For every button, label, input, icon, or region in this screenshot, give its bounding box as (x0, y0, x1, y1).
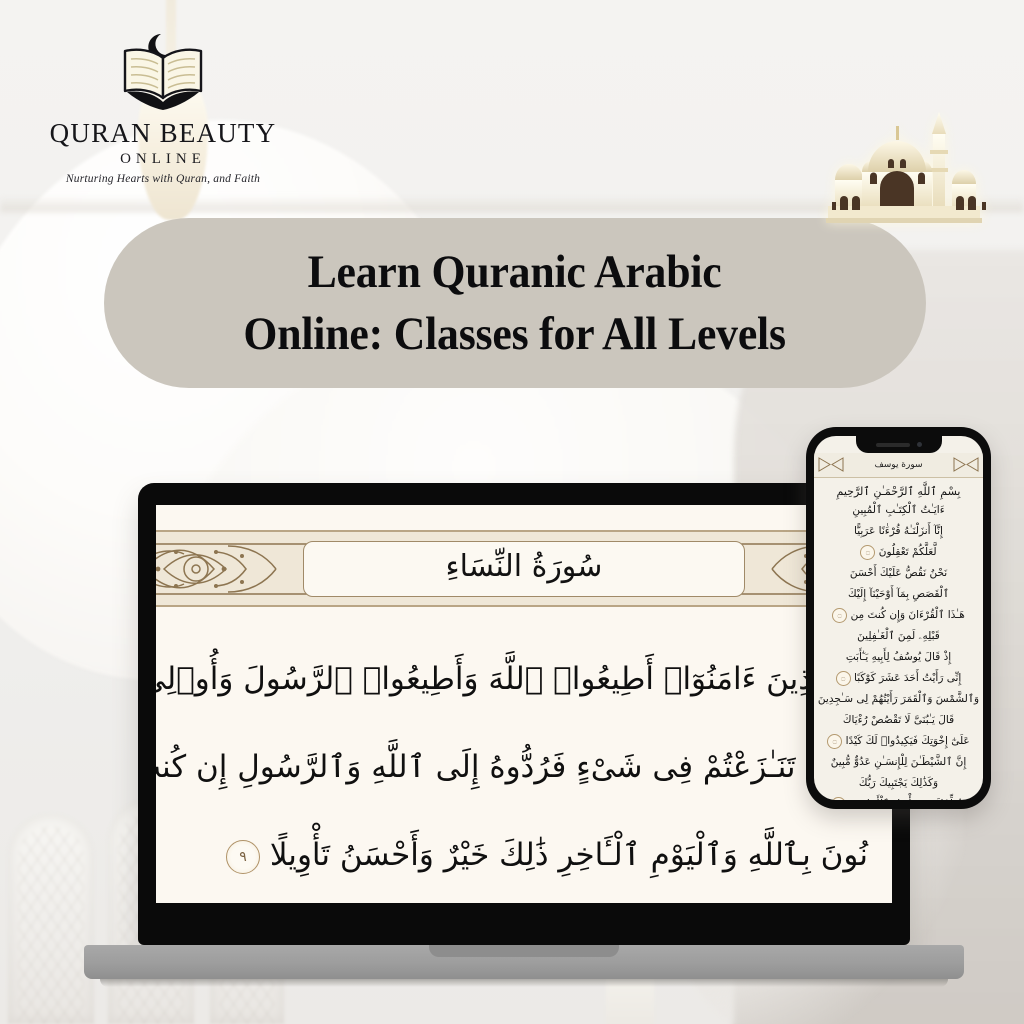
ayah-number-marker: ۝ (836, 671, 851, 686)
phone-verse-line: عَلَىٰٓ إِخْوَتِكَ فَيَكِيدُوا۟ لَكَ كَي… (816, 731, 981, 752)
phone-verse-line: وَٱلشَّمْسَ وَٱلْقَمَرَ رَأَيْتُهُمْ لِى… (816, 689, 981, 710)
laptop-device: سُورَةُ النِّسَاءِ (138, 483, 910, 987)
phone-surah-header: سورة يوسف (814, 453, 983, 478)
brand-logo: QURAN BEAUTY ONLINE Nurturing Hearts wit… (38, 28, 288, 185)
surah-banner: سُورَةُ النِّسَاءِ (156, 530, 892, 607)
ayah-number-marker: ۝ (860, 545, 875, 560)
quran-page: سُورَةُ النِّسَاءِ (156, 505, 892, 903)
ayah-text: نُونَ بِٱللَّهِ وَٱلْيَوْمِ ٱلْـَٔاخِرِ … (270, 837, 868, 873)
background-arch (8, 814, 94, 1024)
arabesque-ornament-icon (953, 456, 979, 473)
phone-speaker-icon (876, 443, 910, 447)
open-book-with-crescent-icon (103, 28, 223, 118)
ayah-number-marker: ۝ (827, 734, 842, 749)
phone-verse-line: إِنِّى رَأَيْتُ أَحَدَ عَشَرَ كَوْكَبًا … (816, 668, 981, 689)
phone-verse-line: إِنَّآ أَنزَلْنَـٰهُ قُرْءَٰنًا عَرَبِيً… (816, 521, 981, 542)
phone-verse-line: وَكَذَٰلِكَ يَجْتَبِيكَ رَبُّكَ (816, 773, 981, 794)
ayah-line: نُونَ بِٱللَّهِ وَٱلْيَوْمِ ٱلْـَٔاخِرِ … (162, 811, 892, 899)
brand-tagline: Nurturing Hearts with Quran, and Faith (38, 173, 288, 185)
laptop-lid: سُورَةُ النِّسَاءِ (138, 483, 910, 945)
ayah-number-marker: ٩ (226, 840, 260, 874)
laptop-base-shadow (100, 979, 948, 987)
mosque-illustration-icon (800, 106, 996, 226)
page-title-line-1: Learn Quranic Arabic (308, 241, 722, 303)
phone-camera-icon (917, 442, 922, 447)
poster-canvas: QURAN BEAUTY ONLINE Nurturing Hearts wit… (0, 0, 1024, 1024)
phone-verse-line: إِنَّ ٱلشَّيْطَـٰنَ لِلْإِنسَـٰنِ عَدُوٌ… (816, 752, 981, 773)
phone-verse-line: ٱلْقَصَصِ بِمَآ أَوْحَيْنَآ إِلَيْكَ (816, 584, 981, 605)
arabesque-ornament-icon (156, 532, 314, 605)
ayah-line: يَـٰٓأَيُّهَا ٱلَّذِينَ ءَامَنُوٓا۟ أَطِ… (162, 635, 892, 723)
surah-title: سُورَةُ النِّسَاءِ (446, 552, 603, 586)
ayah-line: مِنكُمْ فَإِن تَنَـٰزَعْتُمْ فِى شَىْءٍ … (162, 723, 892, 811)
phone-verse-line: قَبْلِهِۦ لَمِنَ ٱلْغَـٰفِلِينَ (816, 626, 981, 647)
headline-banner: Learn Quranic Arabic Online: Classes for… (104, 218, 926, 388)
brand-name: QURAN BEAUTY (38, 120, 288, 148)
page-title-line-2: Online: Classes for All Levels (244, 303, 786, 365)
phone-surah-title: سورة يوسف (874, 460, 922, 470)
phone-verse-body: ءَايَـٰتُ ٱلْكِتَـٰبِ ٱلْمُبِينِإِنَّآ أ… (814, 500, 983, 800)
phone-verse-line: قَالَ يَـٰبُنَىَّ لَا تَقْصُصْ رُءْيَاكَ (816, 710, 981, 731)
phone-verse-line: لَّعَلَّكُمْ تَعْقِلُونَ ۝ (816, 542, 981, 563)
phone-bismillah: بِسْمِ ٱللَّهِ ٱلرَّحْمَـٰنِ ٱلرَّحِيمِ (814, 478, 983, 500)
phone-verse-line: وَيُعَلِّمُكَ مِن تَأْوِيلِ ٱلْأَحَادِيث… (816, 794, 981, 800)
surah-title-plate: سُورَةُ النِّسَاءِ (303, 541, 745, 597)
phone-verse-line: هَـٰذَا ٱلْقُرْءَانَ وَإِن كُنتَ مِن ۝ (816, 605, 981, 626)
phone-notch (856, 436, 942, 453)
arabesque-ornament-icon (818, 456, 844, 473)
laptop-base (84, 945, 964, 979)
quran-verse-body: يَـٰٓأَيُّهَا ٱلَّذِينَ ءَامَنُوٓا۟ أَطِ… (156, 607, 892, 903)
ayah-number-marker: ۝ (832, 608, 847, 623)
ayah-number-marker: ۝ (831, 797, 846, 801)
phone-verse-line: ءَايَـٰتُ ٱلْكِتَـٰبِ ٱلْمُبِينِ (816, 500, 981, 521)
phone-verse-line: إِذْ قَالَ يُوسُفُ لِأَبِيهِ يَـٰٓأَبَتِ (816, 647, 981, 668)
phone-device: سورة يوسف بِسْمِ ٱللَّهِ ٱلرَّحْمَـٰنِ ٱ… (806, 427, 991, 809)
laptop-screen[interactable]: سُورَةُ النِّسَاءِ (156, 505, 892, 903)
phone-verse-line: نَحْنُ نَقُصُّ عَلَيْكَ أَحْسَنَ (816, 563, 981, 584)
phone-screen[interactable]: سورة يوسف بِسْمِ ٱللَّهِ ٱلرَّحْمَـٰنِ ٱ… (814, 436, 983, 800)
brand-name-secondary: ONLINE (38, 151, 288, 168)
